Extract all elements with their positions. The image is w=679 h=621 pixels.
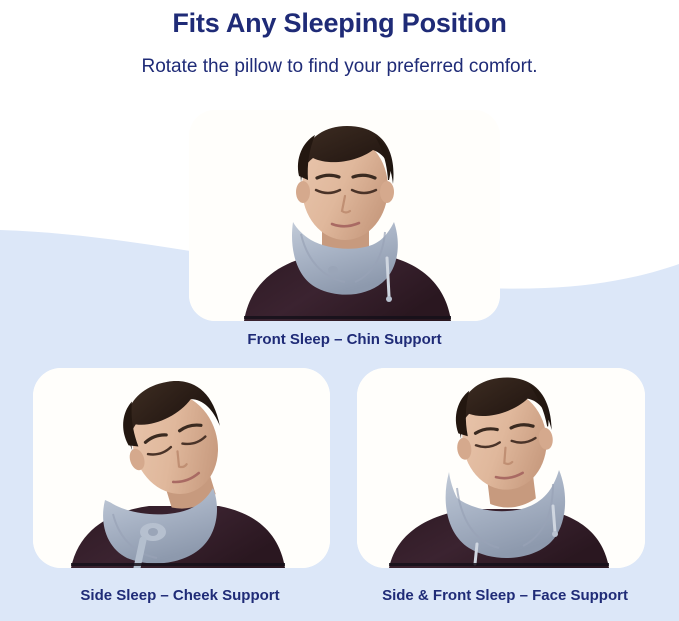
photo-side-sleep (33, 368, 330, 568)
page-subtitle: Rotate the pillow to find your preferred… (0, 41, 679, 80)
caption-side-sleep: Side Sleep – Cheek Support (20, 587, 340, 605)
caption-front-sleep: Front Sleep – Chin Support (189, 331, 500, 349)
photo-card-front-sleep (189, 110, 500, 321)
page-title: Fits Any Sleeping Position (0, 0, 679, 41)
photo-front-sleep (189, 110, 500, 321)
caption-side-front-sleep: Side & Front Sleep – Face Support (345, 587, 665, 605)
photo-side-front-sleep (357, 368, 645, 568)
photo-card-side-front-sleep (357, 368, 645, 568)
photo-card-side-sleep (33, 368, 330, 568)
header: Fits Any Sleeping Position Rotate the pi… (0, 0, 679, 80)
